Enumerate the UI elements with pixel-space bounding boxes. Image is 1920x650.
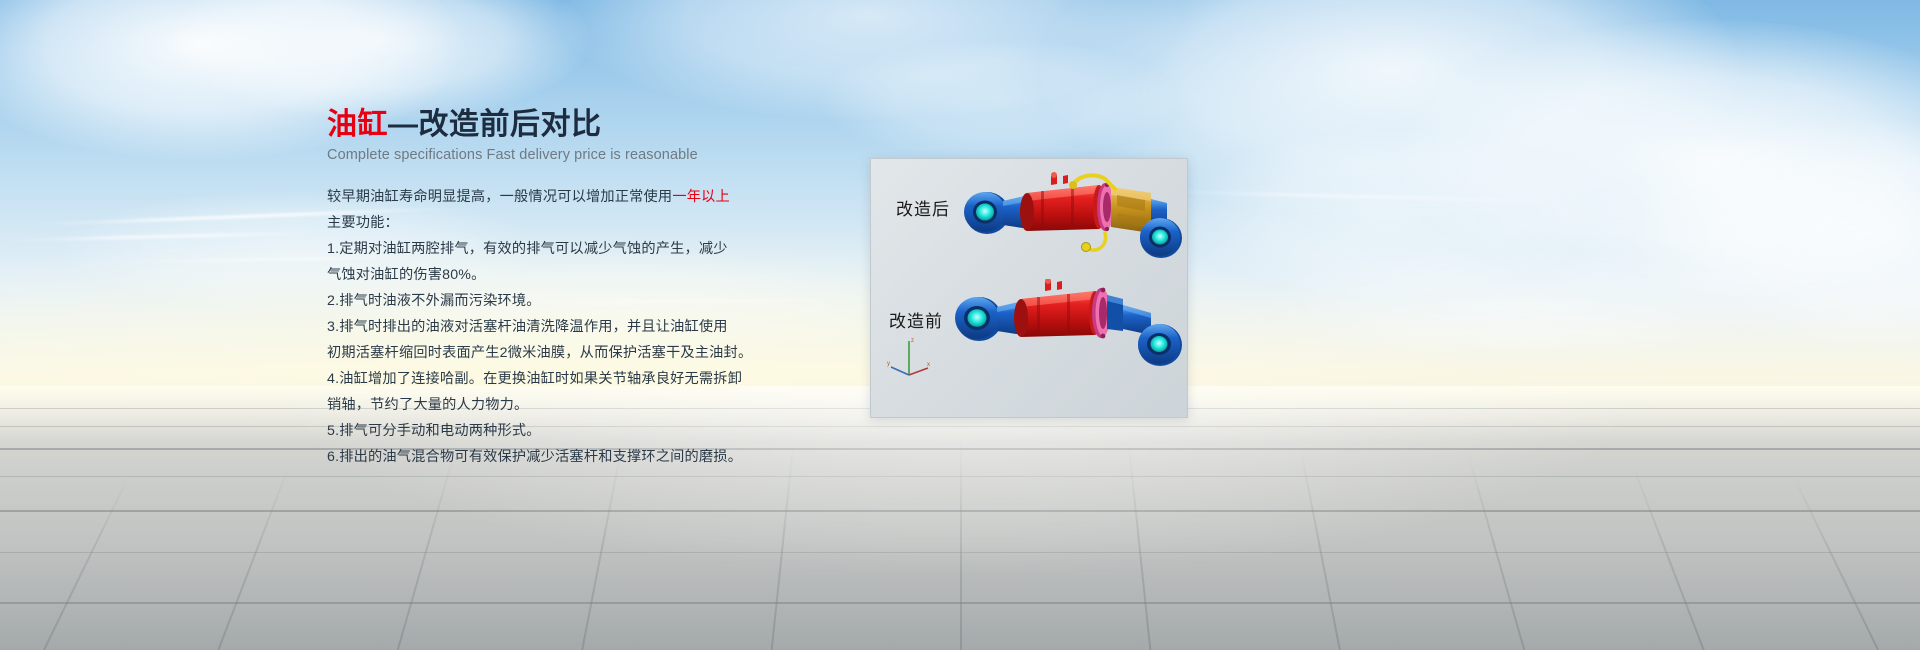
body-line-2: 主要功能： xyxy=(327,210,767,236)
body-line-1-emphasis: 一年以上 xyxy=(672,189,730,205)
svg-text:x: x xyxy=(927,362,930,368)
body-line-3: 1.定期对油缸两腔排气，有效的排气可以减少气蚀的产生，减少 xyxy=(327,236,767,262)
feature-list: 较早期油缸寿命明显提高，一般情况可以增加正常使用一年以上 主要功能： 1.定期对… xyxy=(327,184,767,470)
cylinder-render-before xyxy=(945,279,1183,399)
body-line-9: 销轴，节约了大量的人力物力。 xyxy=(327,392,767,418)
body-line-10: 5.排气可分手动和电动两种形式。 xyxy=(327,418,767,444)
plaza-ground xyxy=(0,386,1920,650)
cylinder-render-after xyxy=(955,171,1183,283)
body-line-11: 6.排出的油气混合物可有效保护减少活塞杆和支撑环之间的磨损。 xyxy=(327,444,767,470)
svg-text:y: y xyxy=(887,361,890,367)
cloud-shape xyxy=(820,40,1180,160)
cloud-shape xyxy=(170,0,590,120)
axis-triad-icon: z y x xyxy=(887,335,933,379)
ground-shadow xyxy=(0,540,1920,650)
product-render-panel: 改造后 改造前 z y x xyxy=(870,158,1188,418)
cloud-shape xyxy=(560,0,1180,120)
page-subtitle: Complete specifications Fast delivery pr… xyxy=(327,147,767,163)
body-line-8: 4.油缸增加了连接哈副。在更换油缸时如果关节轴承良好无需拆卸 xyxy=(327,366,767,392)
label-before-modification: 改造前 xyxy=(889,307,943,332)
body-line-6: 3.排气时排出的油液对活塞杆油清洗降温作用，并且让油缸使用 xyxy=(327,314,767,340)
body-line-5: 2.排气时油液不外漏而污染环境。 xyxy=(327,288,767,314)
body-line-4: 气蚀对油缸的伤害80%。 xyxy=(327,262,767,288)
svg-text:z: z xyxy=(911,338,914,344)
body-line-7: 初期活塞杆缩回时表面产生2微米油膜，从而保护活塞干及主油封。 xyxy=(327,340,767,366)
page-title: 油缸—改造前后对比 xyxy=(327,106,767,144)
body-line-1: 较早期油缸寿命明显提高，一般情况可以增加正常使用一年以上 xyxy=(327,184,767,210)
promo-copy: 油缸—改造前后对比 Complete specifications Fast d… xyxy=(327,106,767,470)
title-rest: —改造前后对比 xyxy=(388,108,602,141)
body-line-1-text: 较早期油缸寿命明显提高，一般情况可以增加正常使用 xyxy=(327,189,672,205)
title-highlight: 油缸 xyxy=(327,108,388,141)
label-after-modification: 改造后 xyxy=(896,195,950,220)
promo-banner: 油缸—改造前后对比 Complete specifications Fast d… xyxy=(0,0,1920,650)
